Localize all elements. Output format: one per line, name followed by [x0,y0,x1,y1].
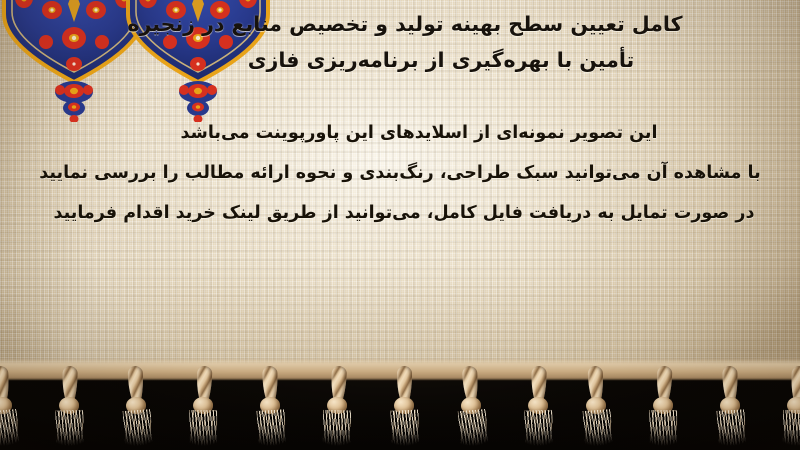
tassel-strands [583,409,613,447]
tassel-strands [649,410,677,446]
fringe-tassel [255,366,286,447]
fringe-tassel [390,366,420,446]
carpet-fringe [0,358,800,450]
tassel-strands [323,410,352,446]
title-line-1: کامل تعیین سطح بهینه تولید و تخصیص منابع… [10,6,800,42]
fringe-tassel [121,366,154,447]
slide-canvas: کامل تعیین سطح بهینه تولید و تخصیص منابع… [0,0,800,450]
tassel-strands [55,410,84,446]
body-line-1: این تصویر نمونه‌ای از اسلایدهای این پاور… [0,113,800,153]
fringe-tassel [715,366,746,447]
tassel-strands [123,409,153,447]
tassel-strands [458,409,489,447]
body-line-2: با مشاهده آن می‌توانید سبک طراحی، رنگ‌بن… [0,153,800,193]
tassel-strands [783,410,800,446]
slide-body: این تصویر نمونه‌ای از اسلایدهای این پاور… [0,113,800,233]
slide-title: کامل تعیین سطح بهینه تولید و تخصیص منابع… [10,6,800,78]
title-line-2: تأمین با بهره‌گیری از برنامه‌ریزی فازی [10,42,800,78]
fringe-tassel [54,366,85,447]
tassel-strands [189,410,217,446]
fringe-tassel [455,365,489,446]
tassel-strands [390,410,419,447]
fringe-tassel [523,366,554,447]
tassel-strands [256,409,286,446]
tassel-strands [524,410,553,446]
fringe-tassel [188,366,221,447]
body-line-3: در صورت تمایل به دریافت فایل کامل، می‌تو… [0,193,800,233]
fringe-tassel [581,366,614,447]
slide-text-layer: کامل تعیین سطح بهینه تولید و تخصیص منابع… [0,0,800,378]
tassel-strands [0,409,20,447]
fringe-tassel [781,365,800,446]
tassel-strands [716,409,746,446]
fringe-tassel [648,366,681,447]
fringe-tassel [321,365,355,446]
